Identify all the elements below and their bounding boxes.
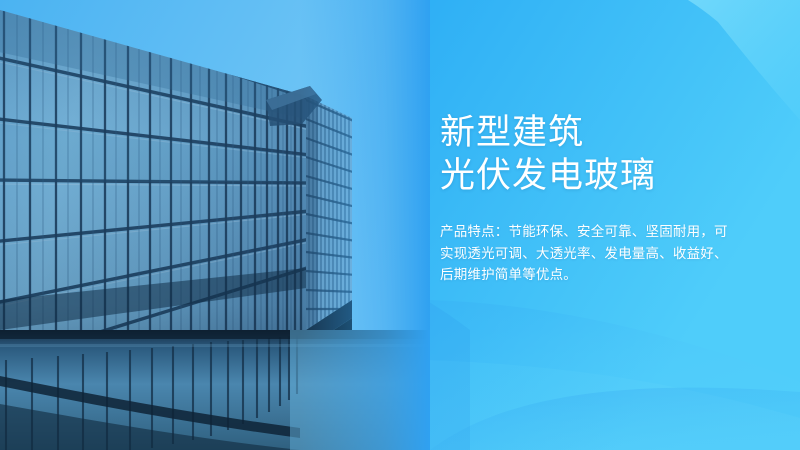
building-photo xyxy=(0,0,430,450)
text-block: 新型建筑 光伏发电玻璃 产品特点：节能环保、安全可靠、坚固耐用，可实现透光可调、… xyxy=(440,112,760,286)
product-features-paragraph: 产品特点：节能环保、安全可靠、坚固耐用，可实现透光可调、大透光率、发电量高、收益… xyxy=(440,221,740,286)
building-photo-illustration xyxy=(0,0,430,450)
headline-line-2: 光伏发电玻璃 xyxy=(440,155,760,197)
photo-edge-fade xyxy=(300,0,430,450)
promo-banner: 新型建筑 光伏发电玻璃 产品特点：节能环保、安全可靠、坚固耐用，可实现透光可调、… xyxy=(0,0,800,450)
headline-line-1: 新型建筑 xyxy=(440,112,760,154)
